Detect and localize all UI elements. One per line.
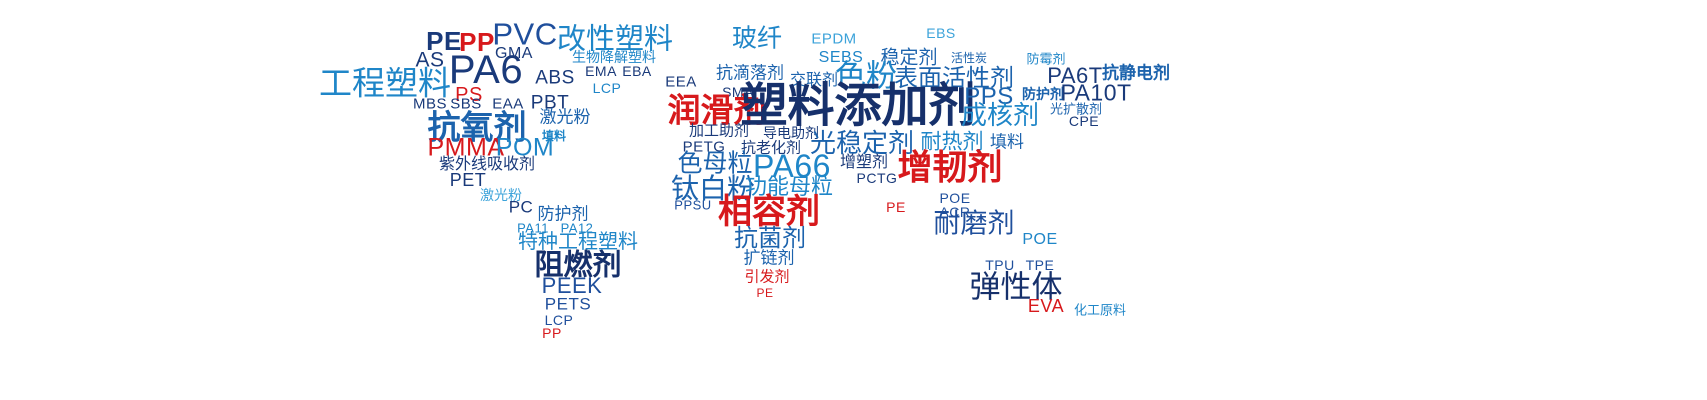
word-cloud-term[interactable]: 引发剂 <box>744 270 789 285</box>
word-cloud-term[interactable]: ABS <box>535 69 575 88</box>
word-cloud-term[interactable]: 增韧剂 <box>897 152 1002 187</box>
word-cloud-term[interactable]: POE <box>939 191 970 205</box>
word-cloud-term[interactable]: EPDM <box>811 32 856 47</box>
word-cloud-term[interactable]: 化工原料 <box>1074 305 1126 318</box>
word-cloud-term[interactable]: CPE <box>1069 114 1099 128</box>
word-cloud-term[interactable]: EMA <box>585 64 617 78</box>
word-cloud-term[interactable]: PA10T <box>1060 82 1131 105</box>
word-cloud-canvas: PEPPPVCGMA改性塑料玻纤EPDMEBSASPA6生物降解塑料SEBS稳定… <box>0 0 1707 400</box>
word-cloud-term[interactable]: POE <box>1022 232 1057 248</box>
word-cloud-term[interactable]: 扩链剂 <box>744 251 795 268</box>
word-cloud-term[interactable]: PE <box>886 200 906 214</box>
word-cloud-term[interactable]: PPSU <box>674 199 711 212</box>
word-cloud-term[interactable]: PCTG <box>857 171 898 185</box>
word-cloud-term[interactable]: EBS <box>926 26 956 40</box>
word-cloud-term[interactable]: 耐磨剂 <box>934 211 1015 238</box>
word-cloud-term[interactable]: 活性炭 <box>951 52 987 64</box>
word-cloud-term[interactable]: LCP <box>593 81 622 95</box>
word-cloud-term[interactable]: PETS <box>545 296 591 313</box>
word-cloud-term[interactable]: 抗菌剂 <box>734 226 806 250</box>
word-cloud-term[interactable]: EEA <box>665 75 697 90</box>
word-cloud-term[interactable]: 塑料添加剂 <box>741 83 976 130</box>
word-cloud-term[interactable]: PC <box>509 199 534 216</box>
word-cloud-term[interactable]: 激光粉 <box>540 110 591 127</box>
word-cloud-term[interactable]: 加工助剂 <box>689 124 749 139</box>
word-cloud-term[interactable]: 防护剂 <box>1022 88 1064 102</box>
word-cloud-term[interactable]: EVA <box>1028 297 1064 315</box>
word-cloud-term[interactable]: PET <box>450 171 487 189</box>
word-cloud-term[interactable]: PE <box>756 287 773 299</box>
word-cloud-term[interactable]: 玻纤 <box>732 26 782 51</box>
word-cloud-term[interactable]: PP <box>542 326 562 340</box>
word-cloud-term[interactable]: 成核剂 <box>961 103 1039 129</box>
word-cloud-term[interactable]: EBA <box>622 64 652 78</box>
word-cloud-term[interactable]: 增塑剂 <box>840 154 888 170</box>
